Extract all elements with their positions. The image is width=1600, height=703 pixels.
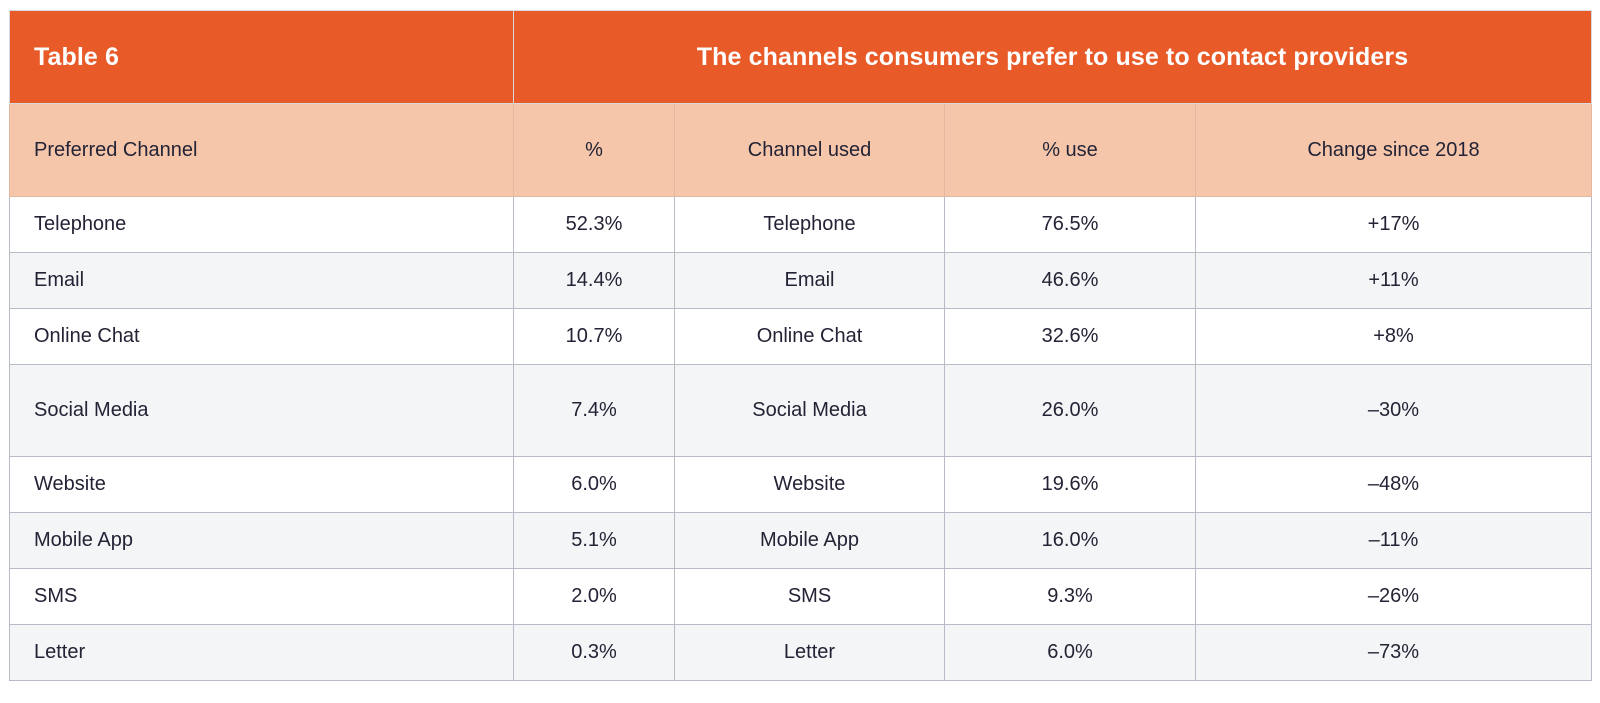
table-row: Email 14.4% Email 46.6% +11%: [10, 253, 1592, 309]
cell-channel-used: Letter: [675, 625, 945, 681]
cell-preferred-channel: Social Media: [10, 365, 514, 457]
cell-use-pct: 16.0%: [945, 513, 1196, 569]
cell-change-since-2018: –48%: [1196, 457, 1592, 513]
cell-preferred-pct: 0.3%: [514, 625, 675, 681]
cell-preferred-pct: 14.4%: [514, 253, 675, 309]
table-row: SMS 2.0% SMS 9.3% –26%: [10, 569, 1592, 625]
cell-channel-used: Social Media: [675, 365, 945, 457]
cell-change-since-2018: –30%: [1196, 365, 1592, 457]
cell-preferred-pct: 7.4%: [514, 365, 675, 457]
cell-change-since-2018: +8%: [1196, 309, 1592, 365]
cell-preferred-channel: SMS: [10, 569, 514, 625]
table-row: Mobile App 5.1% Mobile App 16.0% –11%: [10, 513, 1592, 569]
cell-change-since-2018: –11%: [1196, 513, 1592, 569]
column-header-change-since-2018: Change since 2018: [1196, 104, 1592, 197]
table-row: Telephone 52.3% Telephone 76.5% +17%: [10, 197, 1592, 253]
table-container: Table 6 The channels consumers prefer to…: [9, 10, 1591, 693]
cell-channel-used: Online Chat: [675, 309, 945, 365]
table-title: The channels consumers prefer to use to …: [514, 11, 1592, 104]
cell-change-since-2018: +17%: [1196, 197, 1592, 253]
cell-preferred-channel: Mobile App: [10, 513, 514, 569]
column-header-channel-used: Channel used: [675, 104, 945, 197]
cell-use-pct: 26.0%: [945, 365, 1196, 457]
cell-preferred-channel: Email: [10, 253, 514, 309]
cell-preferred-pct: 5.1%: [514, 513, 675, 569]
preferred-channel-table: Table 6 The channels consumers prefer to…: [9, 10, 1592, 681]
column-header-row: Preferred Channel % Channel used % use C…: [10, 104, 1592, 197]
table-label: Table 6: [10, 11, 514, 104]
cell-use-pct: 9.3%: [945, 569, 1196, 625]
column-header-preferred-channel: Preferred Channel: [10, 104, 514, 197]
cell-preferred-channel: Telephone: [10, 197, 514, 253]
cell-preferred-channel: Letter: [10, 625, 514, 681]
cell-preferred-pct: 52.3%: [514, 197, 675, 253]
cell-channel-used: Email: [675, 253, 945, 309]
cell-change-since-2018: +11%: [1196, 253, 1592, 309]
cell-preferred-pct: 6.0%: [514, 457, 675, 513]
cell-preferred-channel: Online Chat: [10, 309, 514, 365]
cell-use-pct: 46.6%: [945, 253, 1196, 309]
cell-use-pct: 6.0%: [945, 625, 1196, 681]
cell-preferred-pct: 10.7%: [514, 309, 675, 365]
cell-preferred-pct: 2.0%: [514, 569, 675, 625]
cell-channel-used: Website: [675, 457, 945, 513]
cell-use-pct: 19.6%: [945, 457, 1196, 513]
table-head: Table 6 The channels consumers prefer to…: [10, 11, 1592, 197]
cell-channel-used: Mobile App: [675, 513, 945, 569]
cell-change-since-2018: –73%: [1196, 625, 1592, 681]
table-title-row: Table 6 The channels consumers prefer to…: [10, 11, 1592, 104]
column-header-percent-use: % use: [945, 104, 1196, 197]
table-body: Telephone 52.3% Telephone 76.5% +17% Ema…: [10, 197, 1592, 681]
cell-channel-used: Telephone: [675, 197, 945, 253]
cell-use-pct: 76.5%: [945, 197, 1196, 253]
table-row: Letter 0.3% Letter 6.0% –73%: [10, 625, 1592, 681]
page: Table 6 The channels consumers prefer to…: [0, 0, 1600, 703]
table-row: Online Chat 10.7% Online Chat 32.6% +8%: [10, 309, 1592, 365]
cell-change-since-2018: –26%: [1196, 569, 1592, 625]
table-row: Website 6.0% Website 19.6% –48%: [10, 457, 1592, 513]
table-row: Social Media 7.4% Social Media 26.0% –30…: [10, 365, 1592, 457]
cell-channel-used: SMS: [675, 569, 945, 625]
column-header-percent: %: [514, 104, 675, 197]
cell-preferred-channel: Website: [10, 457, 514, 513]
cell-use-pct: 32.6%: [945, 309, 1196, 365]
